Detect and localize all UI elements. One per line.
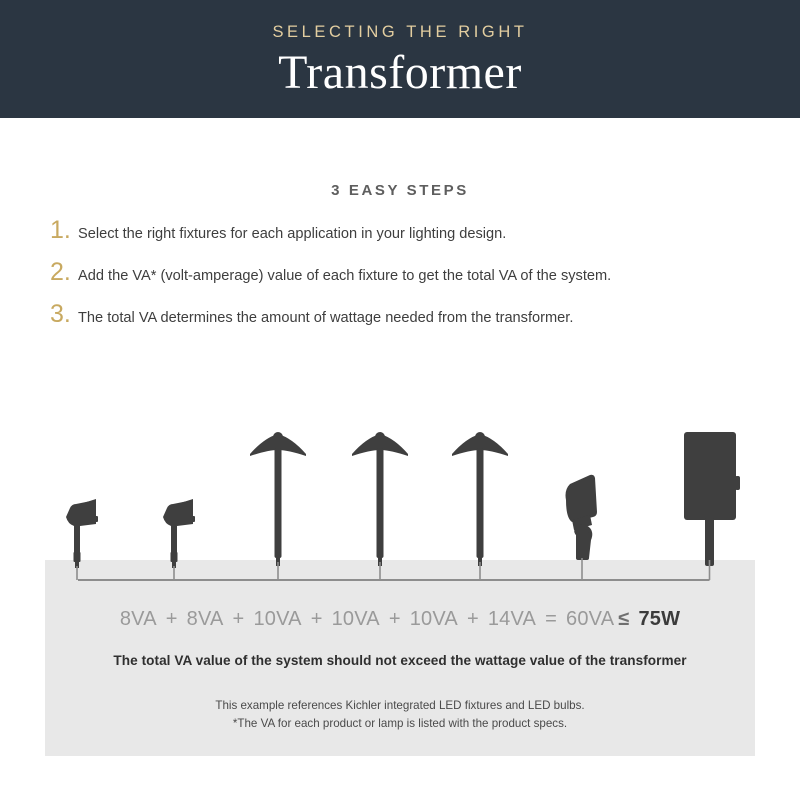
fixture-path-light-3	[452, 432, 508, 580]
step-number: 1.	[50, 218, 78, 243]
va-term-4: 10VA	[332, 608, 380, 631]
plus-operator: +	[458, 608, 488, 631]
footnote-line-2: *The VA for each product or lamp is list…	[45, 715, 755, 733]
infographic-page: SELECTING THE RIGHT Transformer 3 EASY S…	[0, 0, 800, 800]
equals-operator: =	[536, 608, 566, 631]
plus-operator: +	[380, 608, 410, 631]
list-item: 2. Add the VA* (volt-amperage) value of …	[50, 260, 770, 285]
plus-operator: +	[302, 608, 332, 631]
va-total: 60VA	[566, 608, 614, 631]
fixture-path-light-1	[250, 432, 306, 580]
page-title: Transformer	[278, 48, 522, 98]
va-term-3: 10VA	[253, 608, 301, 631]
panel-footnotes: This example references Kichler integrat…	[45, 697, 755, 733]
plus-operator: +	[157, 608, 187, 631]
va-term-1: 8VA	[120, 608, 157, 631]
transformer-unit	[684, 432, 740, 580]
va-formula-row: 8VA + 8VA + 10VA + 10VA + 10VA + 14VA = …	[45, 608, 755, 631]
step-number: 2.	[50, 260, 78, 285]
page-header: SELECTING THE RIGHT Transformer	[0, 0, 800, 118]
header-eyebrow: SELECTING THE RIGHT	[272, 23, 527, 42]
list-item: 1. Select the right fixtures for each ap…	[50, 218, 770, 243]
footnote-line-1: This example references Kichler integrat…	[45, 697, 755, 715]
va-term-2: 8VA	[187, 608, 224, 631]
list-item: 3. The total VA determines the amount of…	[50, 302, 770, 327]
plus-operator: +	[224, 608, 254, 631]
transformer-capacity: 75W	[633, 608, 680, 631]
step-text: Select the right fixtures for each appli…	[78, 225, 506, 243]
va-term-5: 10VA	[410, 608, 458, 631]
less-equal-operator: ≤	[614, 608, 633, 631]
va-term-6: 14VA	[488, 608, 536, 631]
fixture-path-light-2	[352, 432, 408, 580]
step-text: Add the VA* (volt-amperage) value of eac…	[78, 267, 611, 285]
steps-list: 1. Select the right fixtures for each ap…	[50, 218, 770, 345]
steps-heading: 3 EASY STEPS	[0, 182, 800, 199]
panel-headline: The total VA value of the system should …	[45, 653, 755, 668]
step-number: 3.	[50, 302, 78, 327]
step-text: The total VA determines the amount of wa…	[78, 309, 573, 327]
